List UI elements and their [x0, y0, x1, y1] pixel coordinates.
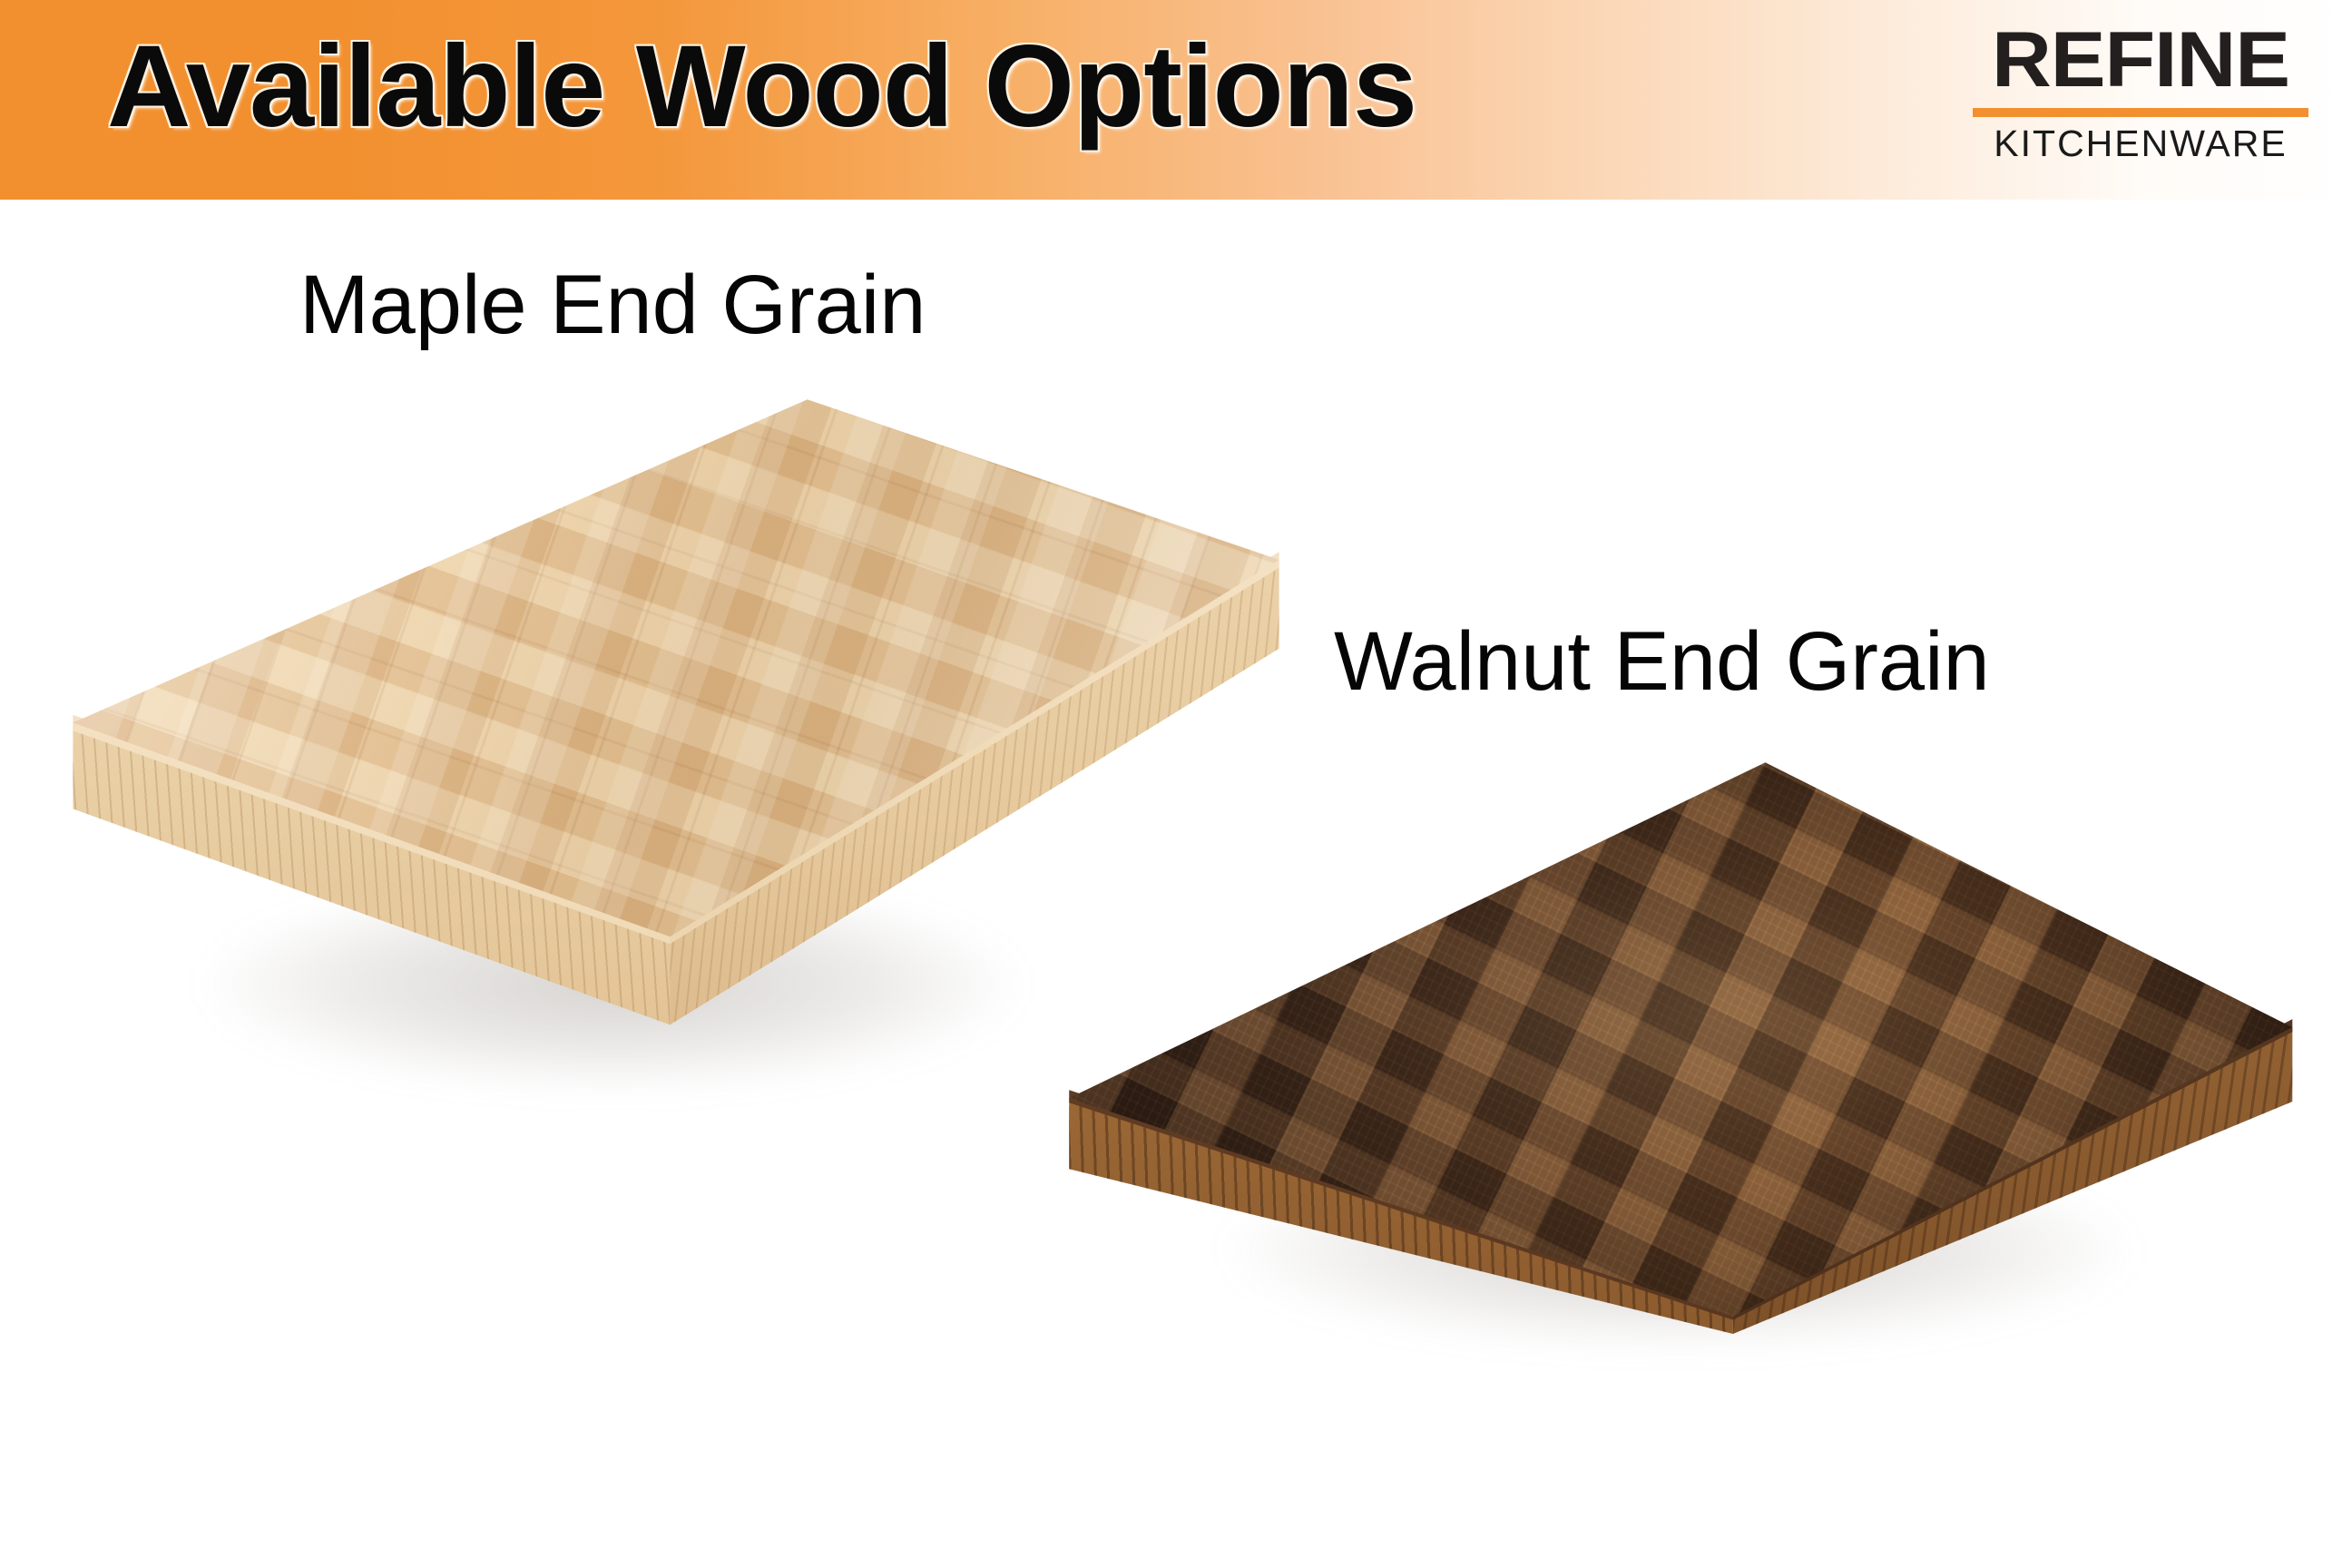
walnut-board-end-grain-surface — [1062, 753, 2305, 1334]
logo-divider-rule — [1973, 108, 2308, 117]
product-image-walnut-cutting-board — [1062, 753, 2305, 1334]
walnut-board-surface-sheen — [1062, 753, 2305, 1334]
logo-brand-name: REFINE — [1963, 20, 2318, 100]
logo-subtitle: KITCHENWARE — [1973, 122, 2308, 164]
walnut-board-body — [1062, 753, 2305, 1334]
product-label-maple: Maple End Grain — [299, 263, 926, 347]
product-label-walnut: Walnut End Grain — [1334, 620, 1990, 703]
header-banner: Available Wood Options REFINE KITCHENWAR… — [0, 0, 2352, 200]
brand-logo: REFINE KITCHENWARE — [1973, 20, 2308, 164]
slide-canvas: Available Wood Options REFINE KITCHENWAR… — [0, 0, 2352, 1568]
page-title: Available Wood Options — [107, 5, 1416, 169]
